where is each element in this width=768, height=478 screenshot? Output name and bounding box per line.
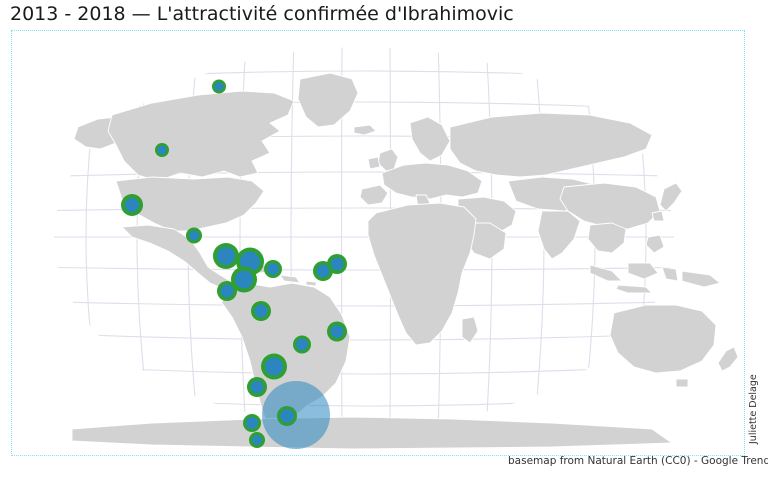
- land-japan-s: [652, 211, 664, 221]
- map-bubble[interactable]: [217, 281, 237, 301]
- land-borneo: [628, 263, 658, 279]
- land-russia: [450, 113, 652, 177]
- land-hispaniola: [280, 275, 300, 283]
- bubble-fill: [280, 409, 294, 423]
- land-greenland: [298, 73, 358, 127]
- bubble-fill: [217, 247, 235, 265]
- map-bubble[interactable]: [213, 243, 239, 269]
- map-bubble[interactable]: [251, 301, 271, 321]
- landmasses: [72, 73, 738, 449]
- land-ireland: [368, 157, 380, 169]
- map-bubble[interactable]: [293, 336, 311, 354]
- bubble-fill: [267, 263, 279, 275]
- bubble-fill: [158, 146, 167, 155]
- map-bubble[interactable]: [155, 143, 169, 157]
- map-bubble[interactable]: [212, 80, 226, 94]
- bubble-fill: [296, 339, 308, 351]
- world-bubble-map[interactable]: [12, 31, 743, 454]
- land-britain: [378, 149, 398, 171]
- bubble-fill: [221, 285, 234, 298]
- bubble-fill: [251, 381, 264, 394]
- map-bubble[interactable]: [249, 432, 265, 448]
- bubble-fill: [246, 417, 258, 429]
- basemap-credit: basemap from Natural Earth (CC0) - Googl…: [508, 455, 768, 467]
- map-bubble[interactable]: [261, 354, 287, 380]
- bubble-fill: [331, 325, 344, 338]
- land-new-zealand: [718, 347, 738, 371]
- bubble-fill: [252, 435, 262, 445]
- land-new-guinea: [682, 271, 720, 287]
- land-sulawesi: [662, 267, 678, 281]
- map-bubble[interactable]: [186, 228, 202, 244]
- bubble-fill: [189, 231, 199, 241]
- page-title: 2013 - 2018 — L'attractivité confirmée d…: [10, 1, 514, 27]
- land-japan: [660, 183, 682, 211]
- land-puertorico: [306, 281, 316, 286]
- land-sea: [588, 223, 626, 253]
- map-bubble[interactable]: [247, 377, 267, 397]
- author-credit: Juliette Delage: [748, 374, 759, 444]
- land-java: [616, 285, 652, 293]
- bubble-fill: [215, 82, 224, 91]
- land-iberia: [360, 185, 388, 205]
- land-africa: [368, 203, 476, 345]
- bubble-fill: [255, 305, 268, 318]
- land-philippines: [646, 235, 664, 253]
- map-bubble[interactable]: [121, 194, 143, 216]
- bubble-fill: [125, 198, 139, 212]
- land-antarctica: [72, 417, 672, 449]
- land-canada: [108, 91, 294, 181]
- map-bubble[interactable]: [264, 260, 282, 278]
- bubble-fill: [265, 358, 283, 376]
- land-tasmania: [676, 379, 688, 387]
- bubble-fill: [235, 271, 253, 289]
- land-europe: [382, 163, 482, 199]
- map-bubble[interactable]: [327, 322, 347, 342]
- map-frame: [11, 30, 745, 456]
- map-bubble[interactable]: [243, 414, 261, 432]
- land-scandinavia: [410, 117, 450, 161]
- chart-page: 2013 - 2018 — L'attractivité confirmée d…: [0, 0, 768, 478]
- bubble-fill: [317, 265, 330, 278]
- land-iceland: [354, 125, 376, 135]
- map-bubble[interactable]: [313, 261, 333, 281]
- land-australia: [610, 305, 716, 373]
- map-bubble[interactable]: [277, 406, 297, 426]
